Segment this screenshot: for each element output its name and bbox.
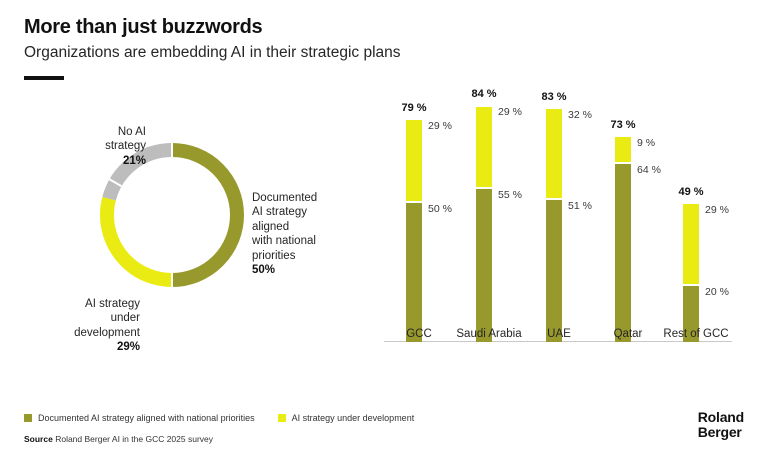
bar-value-bottom-qatar: 64 % — [637, 164, 661, 176]
chart-legend: Documented AI strategy aligned with nati… — [24, 413, 414, 423]
bar-value-top-saudi-arabia: 29 % — [498, 106, 522, 118]
bar-value-bottom-rest-of-gcc: 20 % — [705, 286, 729, 298]
bar-value-top-gcc: 29 % — [428, 120, 452, 132]
donut-label-under-development: AI strategy under development 29% — [10, 282, 140, 355]
donut-label-documented-text: Documented AI strategy aligned with nati… — [252, 192, 317, 262]
bar-segment-top-gcc — [406, 120, 422, 201]
logo-line-1: Roland — [698, 410, 744, 425]
bar-segment-bottom-gcc — [406, 203, 422, 342]
bar-segment-top-qatar — [615, 137, 631, 162]
bar-column-uae[interactable] — [546, 109, 562, 342]
legend-swatch-olive-icon — [24, 414, 32, 422]
bar-segment-bottom-qatar — [615, 164, 631, 342]
bar-value-bottom-saudi-arabia: 55 % — [498, 189, 522, 201]
bar-value-bottom-gcc: 50 % — [428, 203, 452, 215]
page-title: More than just buzzwords — [24, 16, 262, 39]
source-note: Source Roland Berger AI in the GCC 2025 … — [24, 434, 213, 444]
infographic-page: More than just buzzwords Organizations a… — [0, 0, 768, 464]
bar-value-bottom-uae: 51 % — [568, 200, 592, 212]
bar-column-qatar[interactable] — [615, 137, 631, 342]
title-underline-rule — [24, 76, 64, 80]
bar-total-gcc: 79 % — [386, 102, 442, 114]
bar-value-top-qatar: 9 % — [637, 137, 655, 149]
donut-label-no-ai-value: 21% — [123, 155, 146, 167]
bar-segment-bottom-saudi-arabia — [476, 189, 492, 342]
bar-segment-top-saudi-arabia — [476, 107, 492, 188]
donut-label-no-ai-text: No AI strategy — [105, 126, 146, 153]
bar-category-rest-of-gcc: Rest of GCC — [655, 328, 737, 340]
donut-label-no-ai-strategy: No AI strategy 21% — [36, 110, 146, 168]
bar-total-saudi-arabia: 84 % — [456, 88, 512, 100]
bar-value-top-rest-of-gcc: 29 % — [705, 204, 729, 216]
bar-column-rest-of-gcc[interactable] — [683, 204, 699, 342]
bar-column-saudi-arabia[interactable] — [476, 107, 492, 343]
legend-item-documented[interactable]: Documented AI strategy aligned with nati… — [24, 413, 255, 423]
source-label: Source — [24, 434, 53, 444]
bar-segment-top-rest-of-gcc — [683, 204, 699, 285]
bar-total-uae: 83 % — [526, 91, 582, 103]
bar-value-top-uae: 32 % — [568, 109, 592, 121]
page-subtitle: Organizations are embedding AI in their … — [24, 44, 401, 62]
stacked-bar-chart: 79 % 29 % 50 % GCC 84 % 29 % 55 % Saudi … — [384, 96, 744, 366]
bar-segment-bottom-uae — [546, 200, 562, 342]
donut-label-under-development-text: AI strategy under development — [74, 298, 140, 339]
source-text: Roland Berger AI in the GCC 2025 survey — [55, 434, 213, 444]
legend-label-documented: Documented AI strategy aligned with nati… — [38, 413, 255, 423]
logo-line-2: Berger — [698, 425, 744, 440]
roland-berger-logo: Roland Berger — [698, 410, 744, 440]
donut-label-documented: Documented AI strategy aligned with nati… — [252, 176, 372, 278]
bar-total-qatar: 73 % — [595, 119, 651, 131]
bar-segment-top-uae — [546, 109, 562, 198]
bar-total-rest-of-gcc: 49 % — [663, 186, 719, 198]
legend-swatch-yellow-icon — [278, 414, 286, 422]
donut-label-documented-value: 50% — [252, 264, 275, 276]
bar-column-gcc[interactable] — [406, 120, 422, 342]
donut-label-under-development-value: 29% — [117, 341, 140, 353]
legend-label-under-development: AI strategy under development — [292, 413, 415, 423]
legend-item-under-development[interactable]: AI strategy under development — [278, 413, 415, 423]
